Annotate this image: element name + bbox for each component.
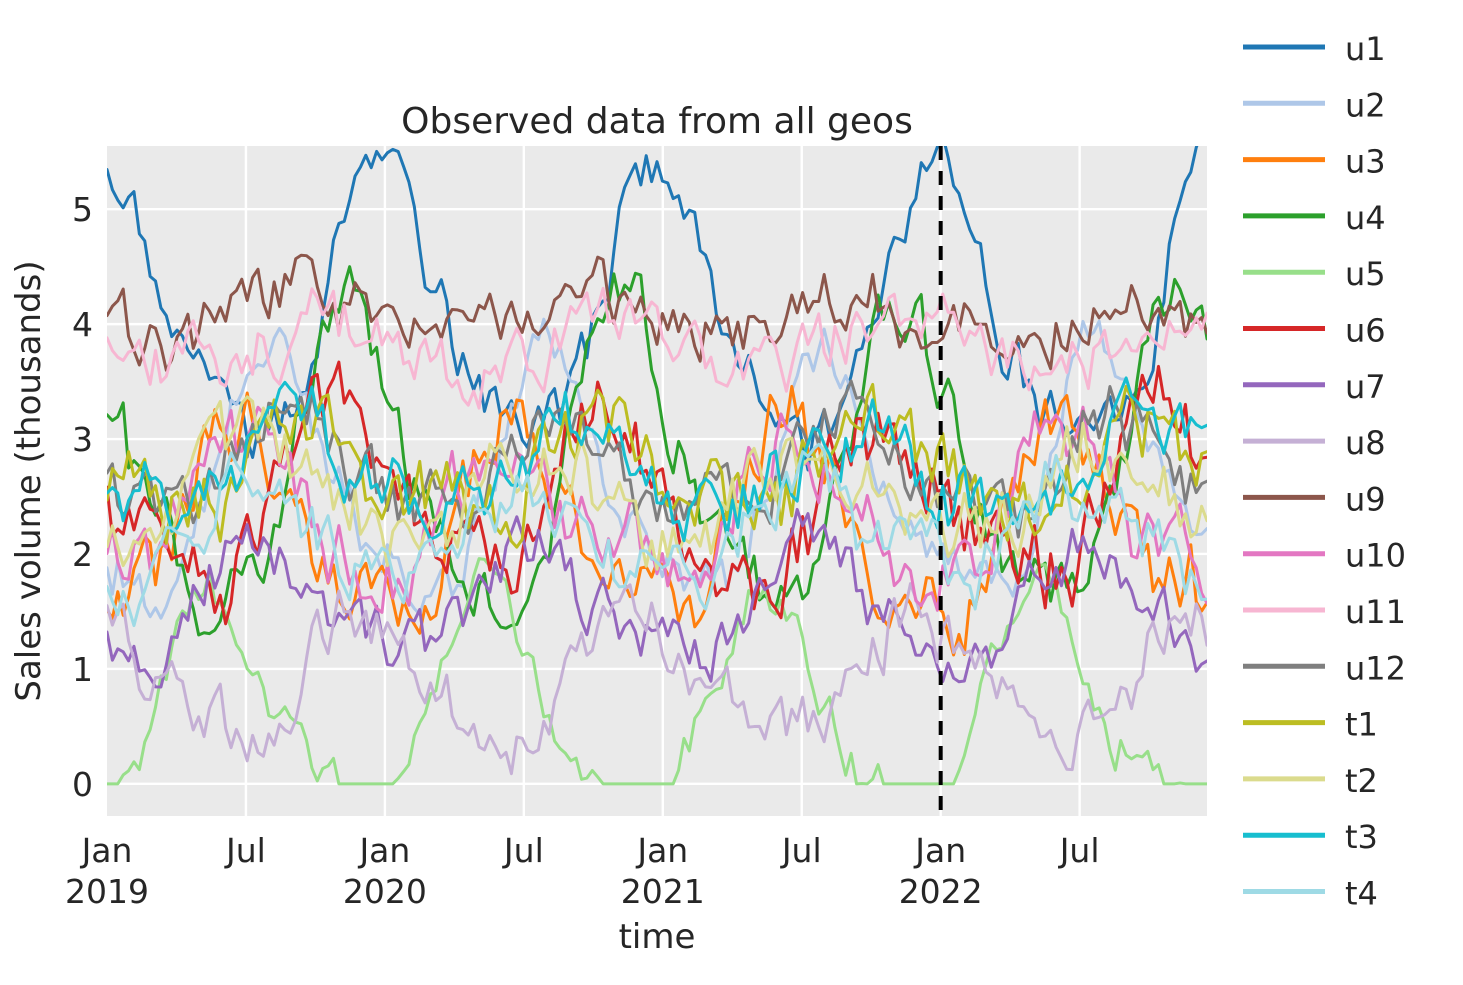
legend-label-u8[interactable]: u8 — [1345, 424, 1386, 462]
y-axis-label: Sales volume (thousands) — [9, 260, 49, 701]
legend-label-u1[interactable]: u1 — [1345, 30, 1386, 68]
y-tick-label: 5 — [72, 190, 93, 229]
legend-label-t2[interactable]: t2 — [1345, 762, 1378, 800]
x-tick-label-month: Jan — [913, 831, 966, 870]
legend-label-u2[interactable]: u2 — [1345, 86, 1386, 124]
y-tick-label: 2 — [72, 535, 93, 574]
legend-label-u7[interactable]: u7 — [1345, 368, 1386, 406]
legend-label-u10[interactable]: u10 — [1345, 537, 1406, 575]
chart-title: Observed data from all geos — [401, 101, 913, 142]
chart-figure: 012345 Jan2019JulJan2020JulJan2021JulJan… — [0, 0, 1463, 985]
y-tick-label: 3 — [72, 420, 93, 459]
y-tick-label: 1 — [72, 650, 93, 689]
x-tick-label-month: Jul — [1058, 831, 1100, 870]
x-tick-label-year: 2022 — [899, 872, 983, 911]
legend-label-u12[interactable]: u12 — [1345, 649, 1406, 687]
x-tick-label-month: Jan — [635, 831, 688, 870]
legend-label-u9[interactable]: u9 — [1345, 480, 1386, 518]
legend-label-t3[interactable]: t3 — [1345, 818, 1378, 856]
legend-label-u3[interactable]: u3 — [1345, 143, 1386, 181]
x-tick-label-year: 2021 — [621, 872, 705, 911]
legend-label-t1[interactable]: t1 — [1345, 706, 1378, 744]
x-tick-label-year: 2020 — [343, 872, 427, 911]
x-axis-label: time — [619, 917, 696, 957]
x-tick-label-month: Jul — [502, 831, 544, 870]
legend-label-u4[interactable]: u4 — [1345, 199, 1386, 237]
legend-label-u5[interactable]: u5 — [1345, 255, 1386, 293]
x-tick-label-month: Jan — [357, 831, 410, 870]
y-tick-label: 4 — [72, 305, 93, 344]
legend-label-t4[interactable]: t4 — [1345, 875, 1378, 913]
x-tick-label-month: Jan — [80, 831, 133, 870]
chart-svg: 012345 Jan2019JulJan2020JulJan2021JulJan… — [0, 0, 1463, 985]
x-tick-label-month: Jul — [780, 831, 822, 870]
y-tick-label: 0 — [72, 765, 93, 804]
legend-label-u11[interactable]: u11 — [1345, 593, 1406, 631]
x-tick-label-month: Jul — [224, 831, 266, 870]
legend-label-u6[interactable]: u6 — [1345, 312, 1386, 350]
x-tick-label-year: 2019 — [65, 872, 149, 911]
